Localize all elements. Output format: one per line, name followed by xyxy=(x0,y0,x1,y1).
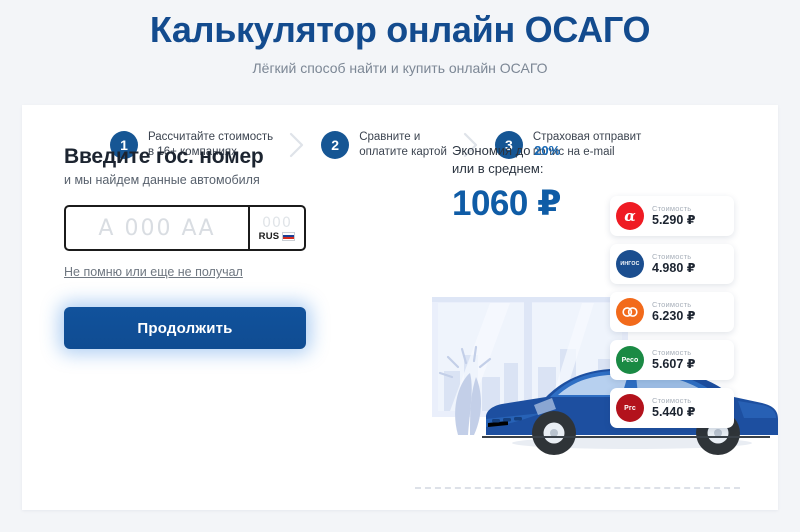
price-label: Стоимость xyxy=(652,253,695,261)
savings-prefix: Экономия до xyxy=(452,143,534,158)
insurer-logo-rosgosstrah-icon: Ргс xyxy=(616,394,644,422)
license-plate-field[interactable]: 000 RUS xyxy=(64,205,306,251)
plate-form: Введите гос. номер и мы найдем данные ав… xyxy=(64,145,364,349)
plate-country-block: RUS xyxy=(259,231,296,242)
savings-amount: 1060 ₽ xyxy=(452,184,612,224)
page-root: Калькулятор онлайн ОСАГО Лёгкий способ н… xyxy=(0,0,800,532)
continue-button[interactable]: Продолжить xyxy=(64,307,306,349)
price-value: 6.230 ₽ xyxy=(652,310,695,323)
price-value: 4.980 ₽ xyxy=(652,262,695,275)
russia-flag-icon xyxy=(282,232,295,241)
price-card-body: Стоимость 6.230 ₽ xyxy=(652,301,695,324)
price-card-list: α Стоимость 5.290 ₽ ИНГОС Стоимость 4.98… xyxy=(610,196,734,436)
insurer-logo-text: Ресо xyxy=(622,357,639,364)
savings-line-2: или в среднем: xyxy=(452,160,612,178)
hero-header: Калькулятор онлайн ОСАГО Лёгкий способ н… xyxy=(0,0,800,78)
page-subtitle: Лёгкий способ найти и купить онлайн ОСАГ… xyxy=(0,58,800,78)
plate-country-label: RUS xyxy=(259,231,280,242)
price-card[interactable]: Ресо Стоимость 5.607 ₽ xyxy=(610,340,734,380)
insurer-logo-text: Ргс xyxy=(624,405,636,412)
plate-region-input[interactable]: 000 xyxy=(262,216,292,230)
step-text-line1: Рассчитайте стоимость xyxy=(148,130,273,145)
price-card-body: Стоимость 5.290 ₽ xyxy=(652,205,695,228)
page-title: Калькулятор онлайн ОСАГО xyxy=(0,8,800,52)
step-text: Сравните и оплатите картой xyxy=(359,130,447,160)
rings-glyph-icon xyxy=(621,303,639,321)
insurer-logo-alfa-icon: α xyxy=(616,202,644,230)
price-card[interactable]: ИНГОС Стоимость 4.980 ₽ xyxy=(610,244,734,284)
price-label: Стоимость xyxy=(652,301,695,309)
price-card-body: Стоимость 5.440 ₽ xyxy=(652,397,695,420)
insurer-logo-text: ИНГОС xyxy=(620,261,639,267)
plate-region-block[interactable]: 000 RUS xyxy=(248,207,304,249)
form-title: Введите гос. номер xyxy=(64,145,364,169)
price-card-body: Стоимость 5.607 ₽ xyxy=(652,349,695,372)
insurer-logo-ingosstrah-icon: ИНГОС xyxy=(616,250,644,278)
insurer-logo-soglasie-icon xyxy=(616,298,644,326)
savings-percent: 20% xyxy=(534,143,560,158)
no-plate-link[interactable]: Не помню или еще не получал xyxy=(64,265,243,279)
plate-number-input[interactable] xyxy=(66,207,248,249)
savings-block: Экономия до 20% или в среднем: 1060 ₽ xyxy=(452,142,612,224)
savings-line-1: Экономия до 20% xyxy=(452,142,612,160)
price-card[interactable]: Стоимость 6.230 ₽ xyxy=(610,292,734,332)
floor-dashed-line xyxy=(415,487,740,489)
main-card: 1 Рассчитайте стоимость в 16+ компаниях … xyxy=(22,105,778,510)
price-label: Стоимость xyxy=(652,349,695,357)
price-card[interactable]: Ргс Стоимость 5.440 ₽ xyxy=(610,388,734,428)
price-value: 5.607 ₽ xyxy=(652,358,695,371)
step-text-line1: Сравните и xyxy=(359,130,447,145)
form-subtitle: и мы найдем данные автомобиля xyxy=(64,173,364,187)
insurer-logo-reso-icon: Ресо xyxy=(616,346,644,374)
price-label: Стоимость xyxy=(652,397,695,405)
price-card-body: Стоимость 4.980 ₽ xyxy=(652,253,695,276)
price-value: 5.440 ₽ xyxy=(652,406,695,419)
step-text-line2: оплатите картой xyxy=(359,145,447,160)
price-label: Стоимость xyxy=(652,205,695,213)
price-card[interactable]: α Стоимость 5.290 ₽ xyxy=(610,196,734,236)
price-value: 5.290 ₽ xyxy=(652,214,695,227)
insurer-logo-text: α xyxy=(624,207,636,225)
